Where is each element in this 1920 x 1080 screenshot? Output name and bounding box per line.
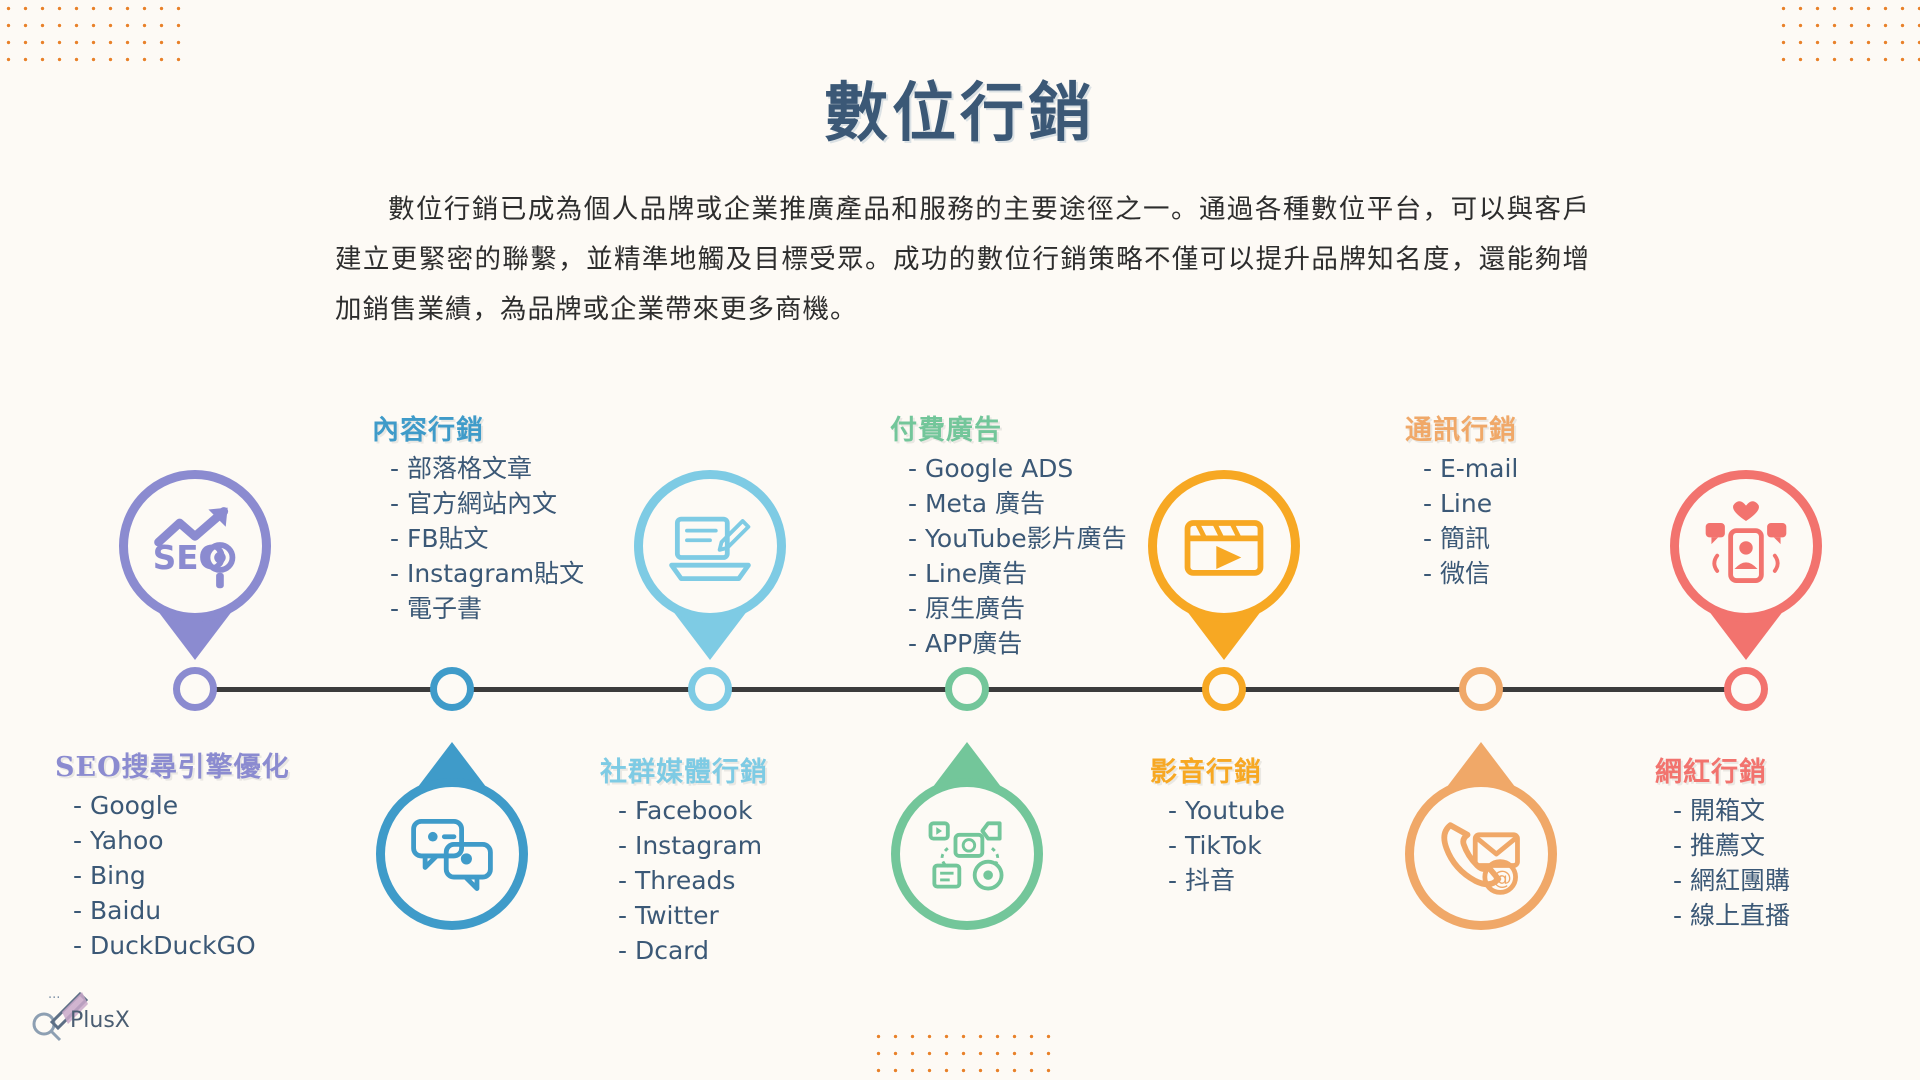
list-item: Bing <box>55 858 345 893</box>
list-item: Google <box>55 788 345 823</box>
timeline-node-content-marketing[interactable] <box>430 667 474 711</box>
section-social-media-marketing: 社群媒體行銷FacebookInstagramThreadsTwitterDca… <box>600 750 890 968</box>
seo-growth-icon: SEO <box>119 470 271 622</box>
list-item: YouTube影片廣告 <box>890 521 1180 556</box>
intro-paragraph: 數位行銷已成為個人品牌或企業推廣產品和服務的主要途徑之一。通過各種數位平台，可以… <box>335 185 1590 335</box>
list-item: Threads <box>600 863 890 898</box>
list-item: E-mail <box>1405 451 1695 486</box>
decorative-dots-top-left <box>0 0 190 70</box>
section-list-seo: GoogleYahooBingBaiduDuckDuckGO <box>55 788 345 963</box>
timeline-node-messaging-marketing[interactable] <box>1459 667 1503 711</box>
list-item: Yahoo <box>55 823 345 858</box>
timeline-node-seo[interactable] <box>173 667 217 711</box>
list-item: Youtube <box>1150 793 1440 828</box>
list-item: 部落格文章 <box>372 451 662 486</box>
pin-paid-advertising[interactable] <box>891 742 1043 930</box>
section-list-influencer-marketing: 開箱文推薦文網紅團購線上直播 <box>1655 793 1920 933</box>
list-item: Facebook <box>600 793 890 828</box>
list-item: 開箱文 <box>1655 793 1920 828</box>
section-content-marketing: 內容行銷部落格文章官方網站內文FB貼文Instagram貼文電子書 <box>372 408 662 626</box>
list-item: DuckDuckGO <box>55 928 345 963</box>
list-item: 推薦文 <box>1655 828 1920 863</box>
svg-text:...: ... <box>48 987 60 1002</box>
timeline-node-paid-advertising[interactable] <box>945 667 989 711</box>
decorative-dots-bottom <box>870 1028 1060 1080</box>
section-list-content-marketing: 部落格文章官方網站內文FB貼文Instagram貼文電子書 <box>372 451 662 626</box>
list-item: 原生廣告 <box>890 591 1180 626</box>
timeline-node-influencer-marketing[interactable] <box>1724 667 1768 711</box>
list-item: Line廣告 <box>890 556 1180 591</box>
list-item: Instagram <box>600 828 890 863</box>
section-heading-seo: SEO搜尋引擎優化 <box>55 745 345 784</box>
section-heading-paid-advertising: 付費廣告 <box>890 408 1180 447</box>
section-messaging-marketing: 通訊行銷E-mailLine簡訊微信 <box>1405 408 1695 591</box>
page-title: 數位行銷 <box>0 62 1920 154</box>
timeline-node-social-media-marketing[interactable] <box>688 667 732 711</box>
decorative-dots-top-right <box>1775 0 1920 68</box>
section-list-social-media-marketing: FacebookInstagramThreadsTwitterDcard <box>600 793 890 968</box>
list-item: 電子書 <box>372 591 662 626</box>
list-item: Google ADS <box>890 451 1180 486</box>
section-seo: SEO搜尋引擎優化GoogleYahooBingBaiduDuckDuckGO <box>55 745 345 963</box>
list-item: Twitter <box>600 898 890 933</box>
ad-megaphone-icon <box>891 778 1043 930</box>
plusx-logo: ... PlusX <box>22 982 142 1042</box>
list-item: 微信 <box>1405 556 1695 591</box>
section-heading-content-marketing: 內容行銷 <box>372 408 662 447</box>
pin-seo[interactable]: SEO <box>119 470 271 658</box>
list-item: FB貼文 <box>372 521 662 556</box>
section-heading-messaging-marketing: 通訊行銷 <box>1405 408 1695 447</box>
section-video-marketing: 影音行銷YoutubeTikTok抖音 <box>1150 750 1440 898</box>
chat-bubbles-icon <box>376 778 528 930</box>
plusx-wordmark: PlusX <box>70 1008 130 1033</box>
list-item: TikTok <box>1150 828 1440 863</box>
timeline-node-video-marketing[interactable] <box>1202 667 1246 711</box>
section-heading-video-marketing: 影音行銷 <box>1150 750 1440 789</box>
list-item: Baidu <box>55 893 345 928</box>
list-item: Instagram貼文 <box>372 556 662 591</box>
section-influencer-marketing: 網紅行銷開箱文推薦文網紅團購線上直播 <box>1655 750 1920 933</box>
pin-content-marketing[interactable] <box>376 742 528 930</box>
section-list-video-marketing: YoutubeTikTok抖音 <box>1150 793 1440 898</box>
svg-text:@: @ <box>1493 867 1512 890</box>
section-heading-social-media-marketing: 社群媒體行銷 <box>600 750 890 789</box>
list-item: Dcard <box>600 933 890 968</box>
list-item: 抖音 <box>1150 863 1440 898</box>
list-item: Meta 廣告 <box>890 486 1180 521</box>
list-item: APP廣告 <box>890 626 1180 661</box>
section-heading-influencer-marketing: 網紅行銷 <box>1655 750 1920 789</box>
list-item: 簡訊 <box>1405 521 1695 556</box>
list-item: Line <box>1405 486 1695 521</box>
section-paid-advertising: 付費廣告Google ADSMeta 廣告YouTube影片廣告Line廣告原生… <box>890 408 1180 661</box>
list-item: 官方網站內文 <box>372 486 662 521</box>
list-item: 線上直播 <box>1655 898 1920 933</box>
section-list-paid-advertising: Google ADSMeta 廣告YouTube影片廣告Line廣告原生廣告AP… <box>890 451 1180 661</box>
list-item: 網紅團購 <box>1655 863 1920 898</box>
section-list-messaging-marketing: E-mailLine簡訊微信 <box>1405 451 1695 591</box>
